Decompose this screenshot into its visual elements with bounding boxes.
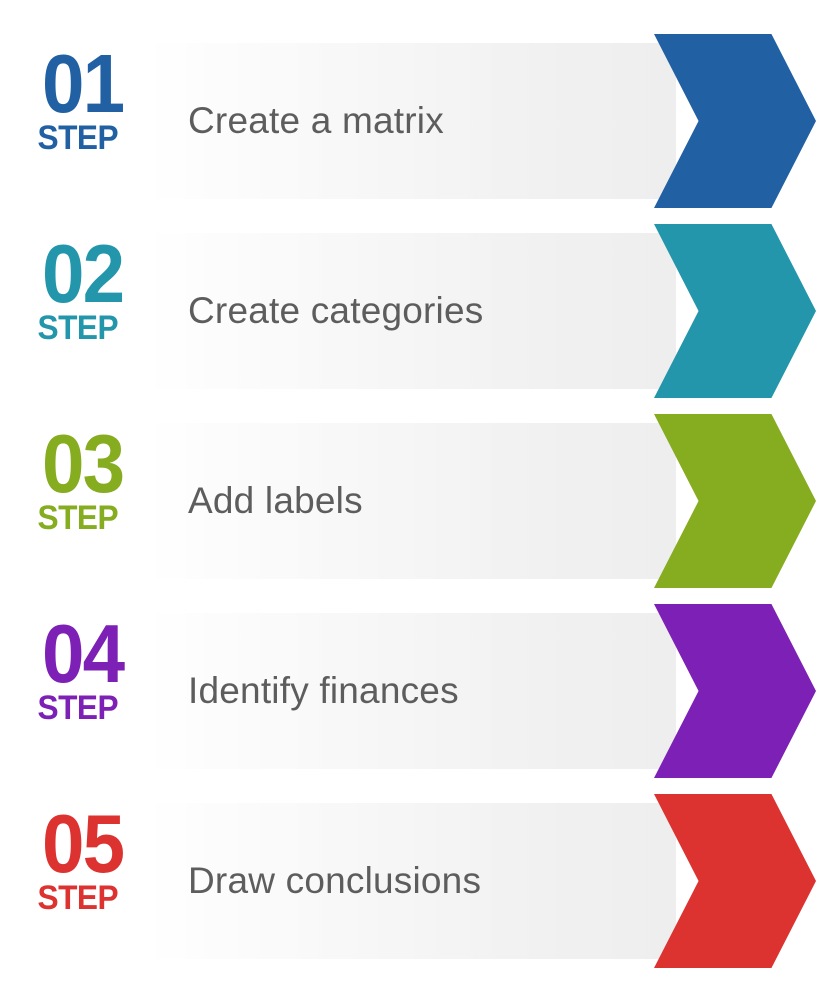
step-row-2[interactable]: 02 STEP Create categories xyxy=(0,224,833,398)
step-word-4: STEP xyxy=(30,691,140,725)
step-label-3: Add labels xyxy=(188,423,363,579)
step-label-4: Identify finances xyxy=(188,613,459,769)
chevron-arrow-step-4[interactable] xyxy=(654,604,816,778)
step-marker-2: 02 STEP xyxy=(30,238,148,384)
step-row-1[interactable]: 01 STEP Create a matrix xyxy=(0,34,833,208)
chevron-arrow-step-3[interactable] xyxy=(654,414,816,588)
step-row-3[interactable]: 03 STEP Add labels xyxy=(0,414,833,588)
step-label-2: Create categories xyxy=(188,233,483,389)
step-bar-5: Draw conclusions xyxy=(146,803,676,959)
step-row-5[interactable]: 05 STEP Draw conclusions xyxy=(0,794,833,968)
step-bar-2: Create categories xyxy=(146,233,676,389)
chevron-arrow-step-5[interactable] xyxy=(654,794,816,968)
step-number-3: 03 xyxy=(30,428,139,499)
steps-infographic: 01 STEP Create a matrix 02 STEP Create c… xyxy=(0,0,833,982)
step-number-1: 01 xyxy=(30,48,139,119)
step-marker-3: 03 STEP xyxy=(30,428,148,574)
step-marker-4: 04 STEP xyxy=(30,618,148,764)
step-marker-1: 01 STEP xyxy=(30,48,148,194)
step-label-1: Create a matrix xyxy=(188,43,444,199)
step-number-4: 04 xyxy=(30,618,139,689)
chevron-arrow-step-2[interactable] xyxy=(654,224,816,398)
step-word-2: STEP xyxy=(30,311,140,345)
step-word-3: STEP xyxy=(30,501,140,535)
step-word-5: STEP xyxy=(30,881,140,915)
step-number-5: 05 xyxy=(30,808,139,879)
step-row-4[interactable]: 04 STEP Identify finances xyxy=(0,604,833,778)
step-bar-1: Create a matrix xyxy=(146,43,676,199)
step-label-5: Draw conclusions xyxy=(188,803,481,959)
step-bar-3: Add labels xyxy=(146,423,676,579)
chevron-arrow-step-1[interactable] xyxy=(654,34,816,208)
step-bar-4: Identify finances xyxy=(146,613,676,769)
step-word-1: STEP xyxy=(30,121,140,155)
step-number-2: 02 xyxy=(30,238,139,309)
step-marker-5: 05 STEP xyxy=(30,808,148,954)
